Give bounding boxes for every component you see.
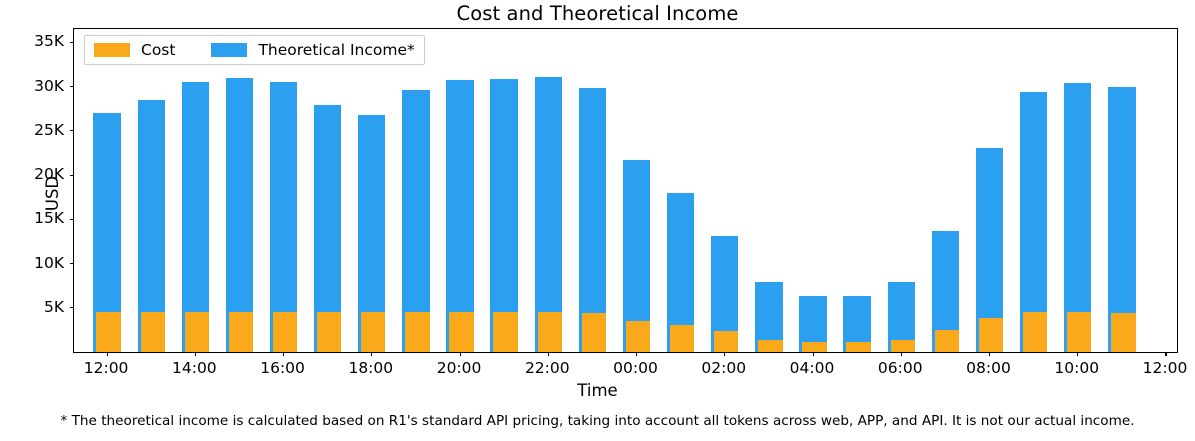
y-tick-mark xyxy=(70,42,74,43)
bar-cost xyxy=(714,331,738,352)
x-tick-mark xyxy=(548,352,549,356)
x-tick-label: 08:00 xyxy=(966,359,1011,377)
y-tick-label: 5K xyxy=(12,298,64,316)
chart-figure: Cost and Theoretical Income USD 5K10K15K… xyxy=(0,0,1195,441)
bar-cost xyxy=(493,312,517,352)
y-tick-mark xyxy=(70,86,74,87)
chart-legend: CostTheoretical Income* xyxy=(84,35,425,65)
x-tick-mark xyxy=(195,352,196,356)
x-tick-mark xyxy=(989,352,990,356)
y-tick-mark xyxy=(70,307,74,308)
legend-entry-cost[interactable]: Cost xyxy=(94,41,175,59)
x-tick-mark xyxy=(283,352,284,356)
y-tick-mark xyxy=(70,175,74,176)
x-tick-mark xyxy=(636,352,637,356)
x-tick-mark xyxy=(1077,352,1078,356)
bar-cost xyxy=(361,312,385,352)
x-tick-mark xyxy=(460,352,461,356)
bar-cost xyxy=(141,312,165,352)
x-tick-mark xyxy=(371,352,372,356)
y-tick-mark xyxy=(70,219,74,220)
bar-cost xyxy=(273,312,297,352)
bar-cost xyxy=(979,318,1003,353)
y-tick-mark xyxy=(70,130,74,131)
bar-cost xyxy=(96,312,120,352)
bar-cost xyxy=(582,313,606,352)
bar-cost xyxy=(185,312,209,352)
bar-cost xyxy=(626,321,650,352)
bar-cost xyxy=(229,312,253,352)
x-tick-label: 10:00 xyxy=(1054,359,1099,377)
y-tick-label: 25K xyxy=(12,121,64,139)
x-tick-label: 22:00 xyxy=(525,359,570,377)
x-tick-mark xyxy=(901,352,902,356)
x-tick-label: 12:00 xyxy=(84,359,129,377)
bar-cost xyxy=(802,342,826,352)
x-tick-mark xyxy=(1165,352,1166,356)
bar-cost xyxy=(935,330,959,352)
x-tick-label: 14:00 xyxy=(172,359,217,377)
plot-frame: USD 5K10K15K20K25K30K35K CostTheoretical… xyxy=(73,28,1178,353)
bar-cost xyxy=(846,342,870,352)
bar-theoretical-income xyxy=(490,79,517,352)
x-tick-label: 18:00 xyxy=(348,359,393,377)
x-tick-mark xyxy=(724,352,725,356)
x-tick-label: 16:00 xyxy=(260,359,305,377)
legend-swatch-cost xyxy=(94,43,130,57)
legend-swatch-theoretical-income xyxy=(211,43,247,57)
bar-cost xyxy=(538,312,562,352)
plot-area xyxy=(74,29,1177,352)
footnote: * The theoretical income is calculated b… xyxy=(0,413,1195,429)
x-tick-label: 02:00 xyxy=(701,359,746,377)
x-tick-label: 12:00 xyxy=(1143,359,1188,377)
bar-cost xyxy=(317,312,341,352)
y-tick-label: 30K xyxy=(12,77,64,95)
x-tick-label: 06:00 xyxy=(878,359,923,377)
x-tick-mark xyxy=(813,352,814,356)
bar-cost xyxy=(670,325,694,352)
bar-cost xyxy=(891,340,915,352)
bar-theoretical-income xyxy=(226,78,253,352)
legend-label-theoretical-income: Theoretical Income* xyxy=(258,41,414,59)
x-tick-label: 20:00 xyxy=(437,359,482,377)
bar-cost xyxy=(1067,312,1091,352)
x-tick-label: 00:00 xyxy=(613,359,658,377)
y-tick-label: 35K xyxy=(12,32,64,50)
x-axis-label: Time xyxy=(0,381,1195,400)
bar-cost xyxy=(758,340,782,352)
y-tick-label: 20K xyxy=(12,165,64,183)
legend-entry-theoretical-income[interactable]: Theoretical Income* xyxy=(211,41,414,59)
x-tick-mark xyxy=(107,352,108,356)
page-title: Cost and Theoretical Income xyxy=(0,2,1195,25)
y-tick-label: 15K xyxy=(12,209,64,227)
bar-cost xyxy=(1023,312,1047,352)
y-tick-mark xyxy=(70,263,74,264)
x-tick-label: 04:00 xyxy=(790,359,835,377)
legend-label-cost: Cost xyxy=(141,41,175,59)
bar-cost xyxy=(1111,313,1135,352)
bar-theoretical-income xyxy=(535,77,562,352)
y-tick-label: 10K xyxy=(12,254,64,272)
bar-cost xyxy=(449,312,473,352)
bar-cost xyxy=(405,312,429,352)
